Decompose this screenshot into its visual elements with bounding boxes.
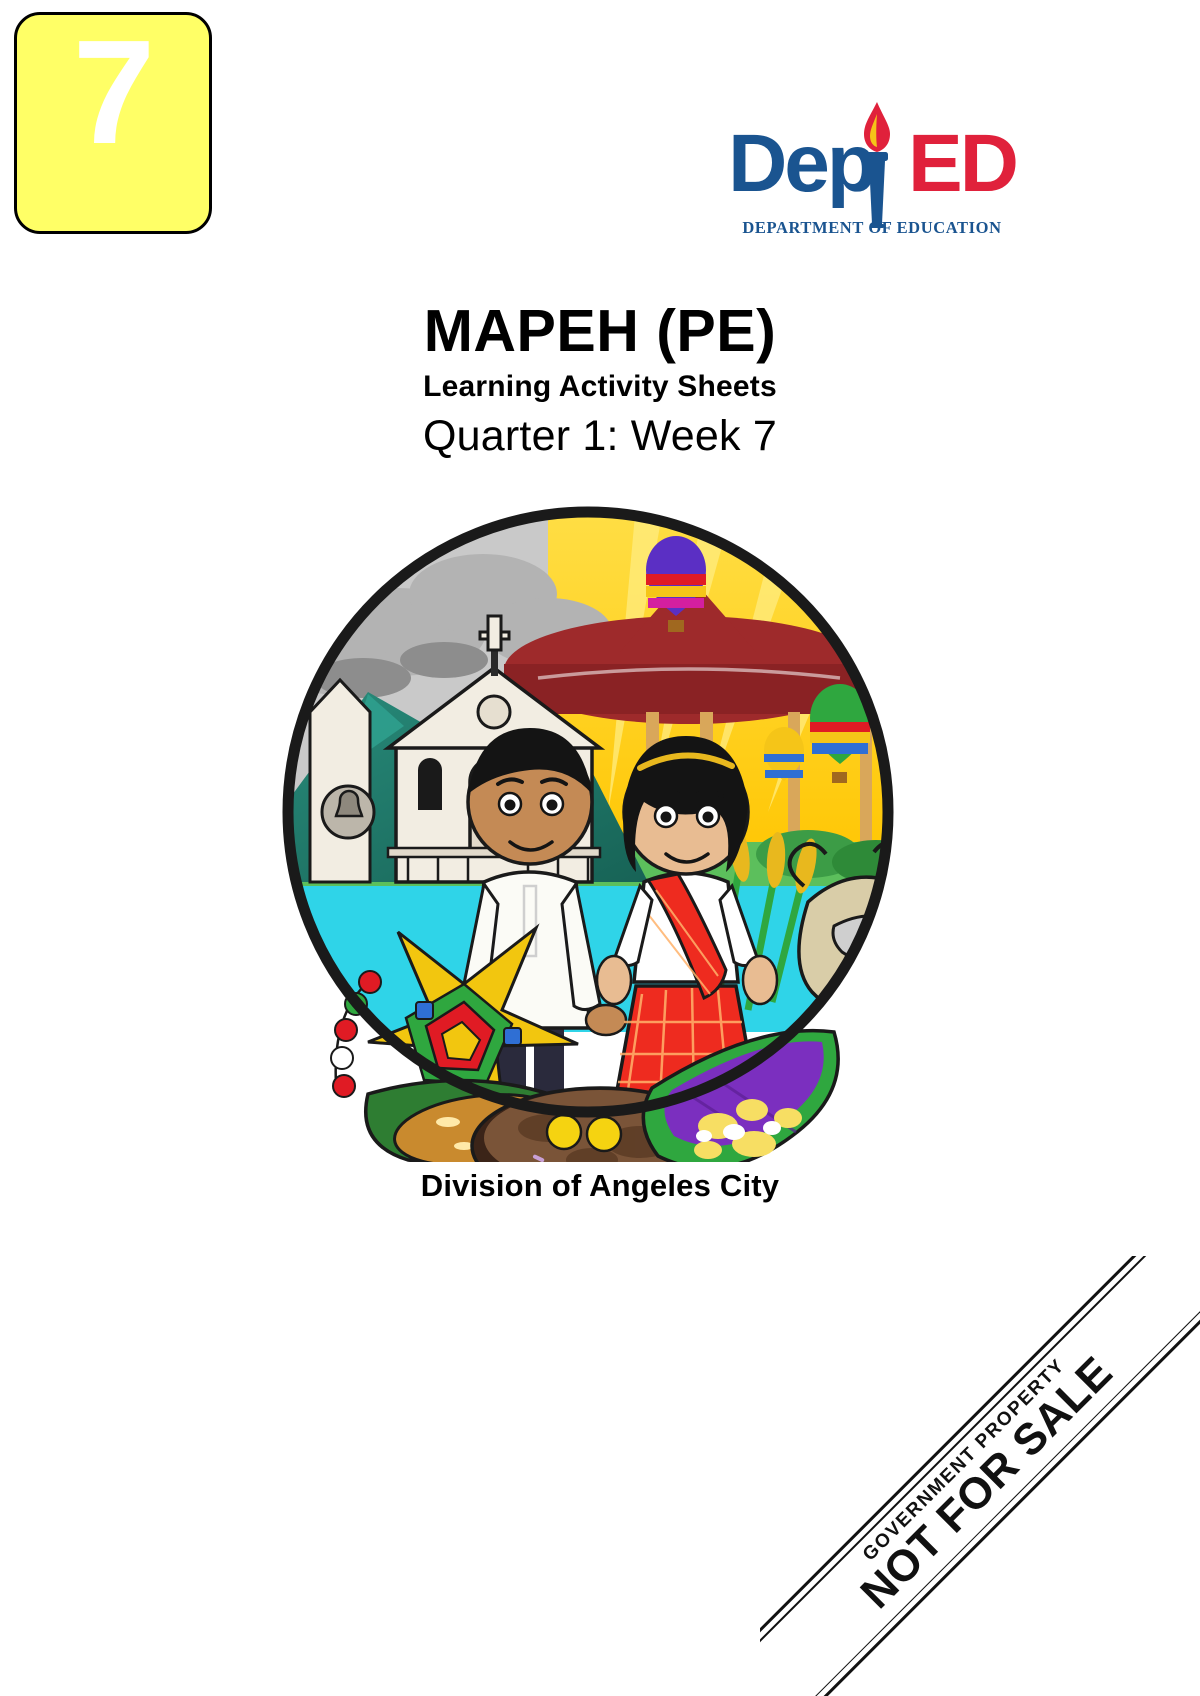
document-type-label: Learning Activity Sheets <box>0 370 1200 405</box>
deped-logo: Dep ED DEPARTMENT OF EDUCATION <box>722 112 1022 260</box>
ribbon-main-text: NOT FOR SALE <box>854 1350 1121 1617</box>
subject-title: MAPEH (PE) <box>0 300 1200 364</box>
deped-wordmark: Dep ED <box>722 112 1022 216</box>
title-block: MAPEH (PE) Learning Activity Sheets Quar… <box>0 300 1200 462</box>
deped-word-ed: ED <box>908 123 1016 205</box>
cover-illustration <box>248 482 928 1162</box>
angeles-city-culture-circle <box>248 482 928 1162</box>
division-caption: Division of Angeles City <box>0 1168 1200 1204</box>
ribbon-band: GOVERNMENT PROPERTY NOT FOR SALE <box>760 1256 1200 1696</box>
hot-air-balloon-striped <box>764 727 804 781</box>
grade-level-badge: 7 <box>14 12 212 234</box>
torch-icon <box>846 100 908 228</box>
grade-level-number: 7 <box>73 15 153 170</box>
quarter-week-label: Quarter 1: Week 7 <box>0 412 1200 461</box>
not-for-sale-ribbon: GOVERNMENT PROPERTY NOT FOR SALE <box>760 1256 1200 1696</box>
ribbon-top-text: GOVERNMENT PROPERTY <box>860 1356 1069 1565</box>
